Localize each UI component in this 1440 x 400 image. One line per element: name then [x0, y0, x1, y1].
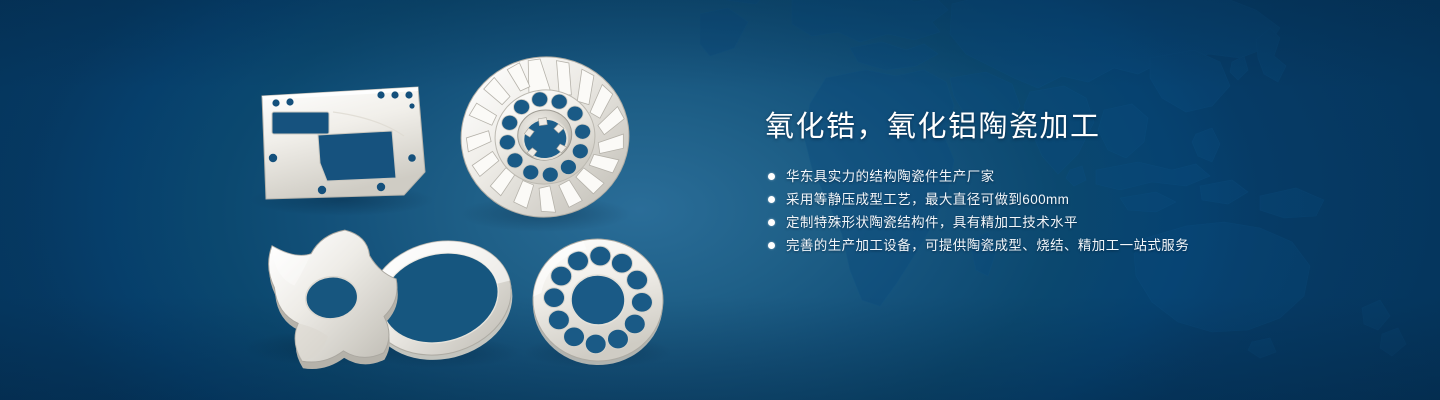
list-item: 华东具实力的结构陶瓷件生产厂家	[765, 168, 1385, 185]
ceramic-products-image	[0, 0, 720, 400]
ceramic-impeller-part	[451, 46, 640, 228]
list-item-label: 定制特殊形状陶瓷结构件，具有精加工技术水平	[786, 214, 1078, 231]
list-item-label: 完善的生产加工设备，可提供陶瓷成型、烧结、精加工一站式服务	[786, 237, 1189, 254]
banner-copy: 氧化锆，氧化铝陶瓷加工 华东具实力的结构陶瓷件生产厂家 采用等静压成型工艺，最大…	[765, 108, 1385, 260]
bullet-dot-icon	[768, 242, 775, 249]
bullet-dot-icon	[768, 173, 775, 180]
list-item: 采用等静压成型工艺，最大直径可做到600mm	[765, 191, 1385, 208]
feature-list: 华东具实力的结构陶瓷件生产厂家 采用等静压成型工艺，最大直径可做到600mm 定…	[765, 168, 1385, 254]
hero-banner: 氧化锆，氧化铝陶瓷加工 华东具实力的结构陶瓷件生产厂家 采用等静压成型工艺，最大…	[0, 0, 1440, 400]
list-item: 完善的生产加工设备，可提供陶瓷成型、烧结、精加工一站式服务	[765, 237, 1385, 254]
list-item-label: 采用等静压成型工艺，最大直径可做到600mm	[786, 191, 1069, 208]
bullet-dot-icon	[768, 196, 775, 203]
ceramic-plate-part	[262, 87, 425, 199]
list-item-label: 华东具实力的结构陶瓷件生产厂家	[786, 168, 995, 185]
list-item: 定制特殊形状陶瓷结构件，具有精加工技术水平	[765, 214, 1385, 231]
bullet-dot-icon	[768, 219, 775, 226]
page-title: 氧化锆，氧化铝陶瓷加工	[765, 108, 1385, 146]
